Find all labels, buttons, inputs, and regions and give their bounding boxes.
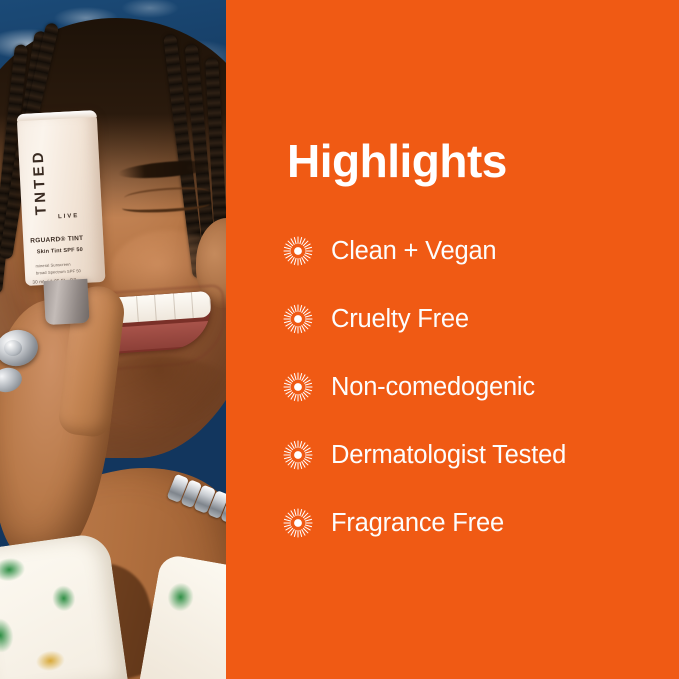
sunburst-icon — [283, 508, 331, 538]
list-item: Non-comedogenic — [283, 364, 673, 410]
patterned-shirt — [0, 532, 128, 679]
list-item-label: Fragrance Free — [331, 509, 504, 538]
list-item: Dermatologist Tested — [283, 432, 673, 478]
product-tube: TNTED LIVE RGUARD® TINT Skin Tint SPF 50… — [17, 110, 108, 322]
list-item-label: Dermatologist Tested — [331, 441, 566, 470]
list-item-label: Clean + Vegan — [331, 237, 496, 266]
sunburst-icon — [283, 236, 331, 266]
tube-cap — [43, 279, 89, 325]
list-item-label: Cruelty Free — [331, 305, 469, 334]
list-item: Clean + Vegan — [283, 228, 673, 274]
product-highlights-graphic: TNTED LIVE RGUARD® TINT Skin Tint SPF 50… — [0, 0, 679, 679]
tube-brand-sub: LIVE — [58, 213, 80, 220]
list-item: Cruelty Free — [283, 296, 673, 342]
sunburst-icon — [283, 372, 331, 402]
sunburst-icon — [283, 304, 331, 334]
model-photo-panel: TNTED LIVE RGUARD® TINT Skin Tint SPF 50… — [0, 0, 226, 679]
sunburst-icon — [283, 440, 331, 470]
page-title: Highlights — [287, 138, 507, 184]
highlights-panel: Highlights — [226, 0, 679, 679]
ring-stone — [4, 340, 22, 356]
highlights-list: Clean + Vegan — [283, 228, 673, 568]
list-item-label: Non-comedogenic — [331, 373, 535, 402]
list-item: Fragrance Free — [283, 500, 673, 546]
